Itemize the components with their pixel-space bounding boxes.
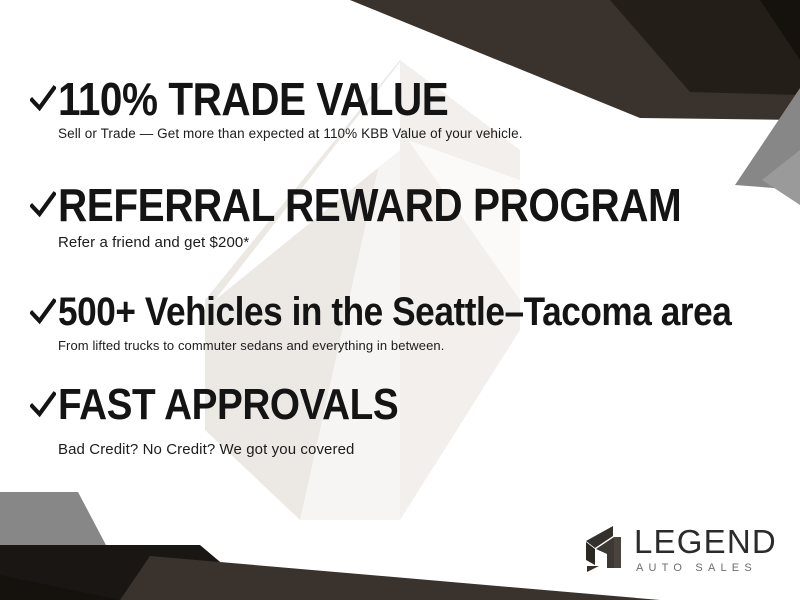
feature-item: 500+ Vehicles in the Seattle–Tacoma area…: [30, 294, 800, 353]
brand-logo: LEGEND AUTO SALES: [583, 524, 777, 574]
feature-item: FAST APPROVALS Bad Credit? No Credit? We…: [30, 385, 445, 458]
promo-banner: 110% TRADE VALUE Sell or Trade — Get mor…: [0, 0, 800, 600]
check-icon: [30, 390, 56, 420]
feature-item: 110% TRADE VALUE Sell or Trade — Get mor…: [30, 78, 523, 141]
feature-headline: 110% TRADE VALUE: [58, 78, 448, 120]
legend-angular-mark-icon: [583, 524, 627, 574]
logo-text-block: LEGEND AUTO SALES: [634, 525, 777, 574]
feature-item: REFERRAL REWARD PROGRAM Refer a friend a…: [30, 184, 766, 251]
feature-list: 110% TRADE VALUE Sell or Trade — Get mor…: [0, 0, 800, 600]
feature-subline: From lifted trucks to commuter sedans an…: [58, 338, 800, 353]
check-icon: [30, 297, 56, 327]
brand-name: LEGEND: [634, 525, 777, 558]
feature-headline: 500+ Vehicles in the Seattle–Tacoma area: [58, 294, 731, 331]
feature-headline-row: 110% TRADE VALUE: [30, 78, 523, 120]
feature-headline-row: REFERRAL REWARD PROGRAM: [30, 184, 766, 226]
feature-headline: REFERRAL REWARD PROGRAM: [58, 184, 681, 226]
feature-headline-row: 500+ Vehicles in the Seattle–Tacoma area: [30, 294, 800, 331]
feature-headline: FAST APPROVALS: [58, 385, 398, 425]
check-icon: [30, 84, 56, 114]
feature-subline: Bad Credit? No Credit? We got you covere…: [58, 441, 445, 458]
brand-tagline: AUTO SALES: [636, 563, 777, 574]
feature-subline: Refer a friend and get $200*: [58, 234, 766, 251]
feature-headline-row: FAST APPROVALS: [30, 385, 445, 425]
feature-subline: Sell or Trade — Get more than expected a…: [58, 126, 523, 141]
check-icon: [30, 190, 56, 220]
